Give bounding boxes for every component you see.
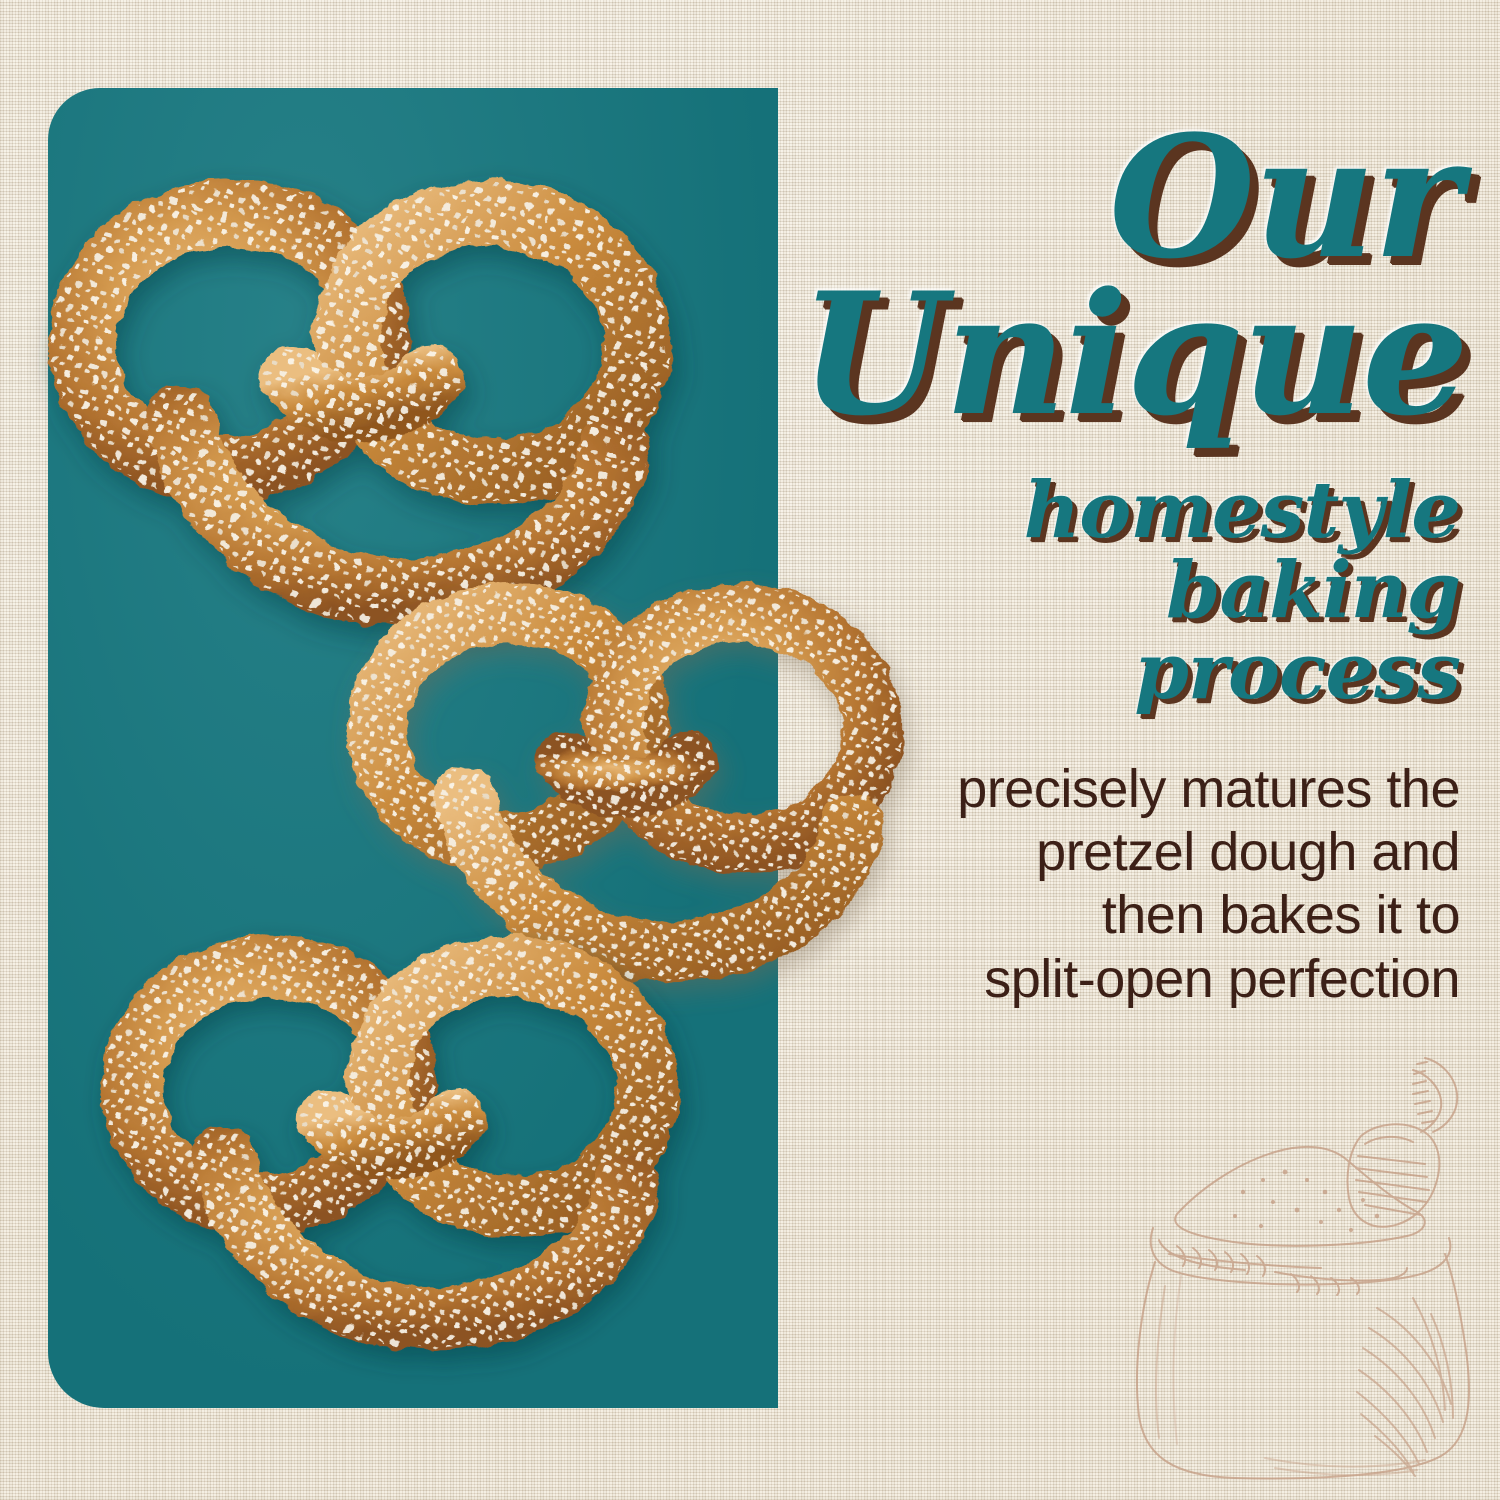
flour-sack-illustration — [1125, 1040, 1500, 1480]
body-copy-line-4: split-open perfection — [800, 948, 1460, 1011]
body-copy: precisely matures the pretzel dough and … — [800, 758, 1460, 1011]
headline-line-2: Unique — [800, 277, 1460, 432]
body-copy-line-3: then bakes it to — [800, 884, 1460, 947]
wheat-icon — [1169, 1246, 1407, 1295]
subheadline-line-3: process — [800, 632, 1460, 712]
copy-column: Our Unique homestyle baking process prec… — [800, 120, 1460, 1011]
subheadline: homestyle baking process — [800, 471, 1460, 712]
subheadline-line-1: homestyle — [800, 471, 1460, 551]
body-copy-line-2: pretzel dough and — [800, 821, 1460, 884]
pretzel-bottom — [55, 880, 725, 1400]
headline: Our Unique — [800, 120, 1460, 431]
subheadline-line-2: baking — [800, 551, 1460, 631]
headline-line-1: Our — [800, 120, 1460, 275]
marketing-image: Our Unique homestyle baking process prec… — [0, 0, 1500, 1500]
body-copy-line-1: precisely matures the — [800, 758, 1460, 821]
